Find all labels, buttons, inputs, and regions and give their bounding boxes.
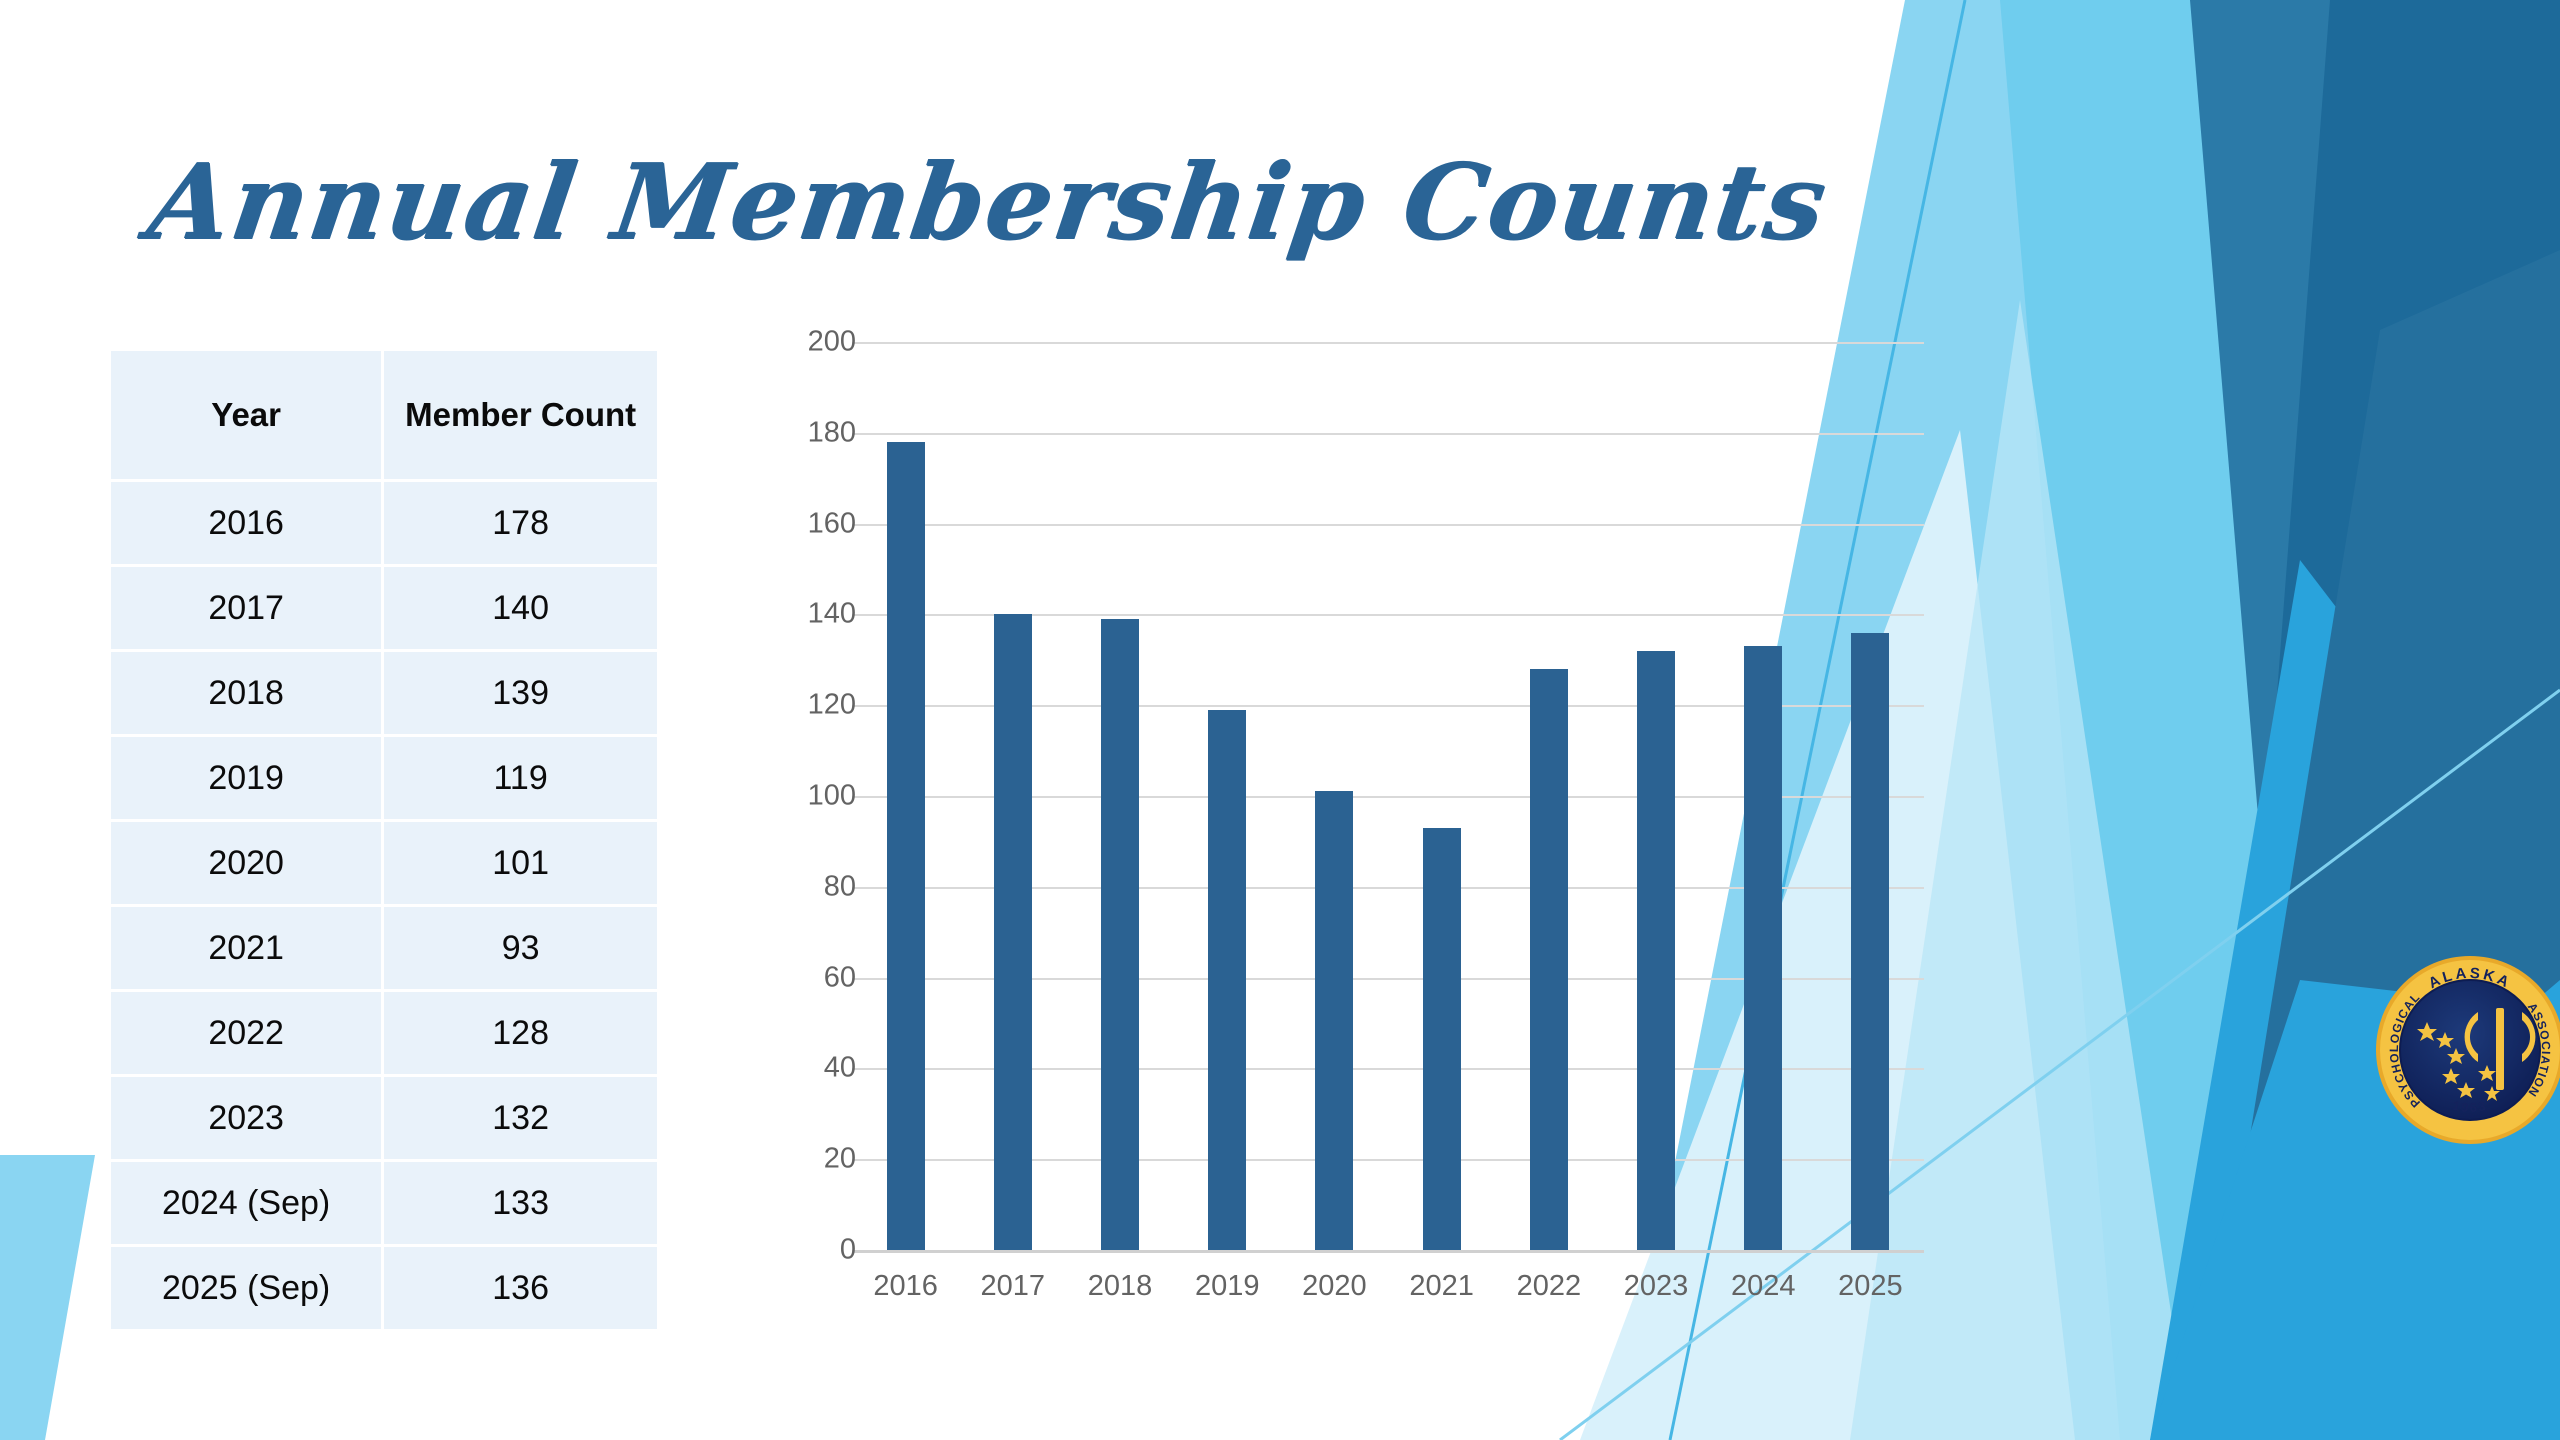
bar-2018[interactable]: [1101, 619, 1139, 1250]
bar-2017[interactable]: [994, 614, 1032, 1250]
table-row: 2016178: [111, 482, 657, 564]
cell-member-count: 119: [384, 737, 657, 819]
cell-year: 2024 (Sep): [111, 1162, 381, 1244]
bar-slot: [1281, 342, 1388, 1250]
bar-slot: [959, 342, 1066, 1250]
y-axis-tick-label: 120: [736, 689, 856, 722]
bar-2022[interactable]: [1530, 669, 1568, 1250]
bar-slot: [1066, 342, 1173, 1250]
y-axis-tick-label: 100: [736, 780, 856, 813]
bar-2019[interactable]: [1208, 710, 1246, 1250]
table-row: 2018139: [111, 652, 657, 734]
page-title: Annual Membership Counts: [141, 140, 1834, 263]
bar-2016[interactable]: [887, 442, 925, 1250]
table-row: 2022128: [111, 992, 657, 1074]
bar-slot: [1710, 342, 1817, 1250]
cell-year: 2018: [111, 652, 381, 734]
y-axis-tick-label: 140: [736, 598, 856, 631]
bar-2023[interactable]: [1637, 651, 1675, 1250]
cell-year: 2022: [111, 992, 381, 1074]
table-header-year: Year: [111, 351, 381, 479]
table-row: 2020101: [111, 822, 657, 904]
bg-shape-bottom-left: [0, 1155, 95, 1440]
membership-bar-chart: 020406080100120140160180200 201620172018…: [760, 330, 1940, 1330]
alaska-psychological-association-logo: ALASKA 1963 PSYCHOLOGICAL ASSOCIATION: [2370, 950, 2560, 1150]
cell-year: 2020: [111, 822, 381, 904]
x-axis-tick-label: 2017: [959, 1270, 1066, 1303]
cell-member-count: 132: [384, 1077, 657, 1159]
table-row: 2025 (Sep)136: [111, 1247, 657, 1329]
bar-2020[interactable]: [1315, 791, 1353, 1250]
cell-year: 2016: [111, 482, 381, 564]
bar-2021[interactable]: [1423, 828, 1461, 1250]
table-row: 2024 (Sep)133: [111, 1162, 657, 1244]
cell-year: 2021: [111, 907, 381, 989]
table-row: 202193: [111, 907, 657, 989]
slide-canvas: Annual Membership Counts Year Member Cou…: [0, 0, 2560, 1440]
x-axis-tick-label: 2025: [1817, 1270, 1924, 1303]
x-axis-tick-label: 2023: [1602, 1270, 1709, 1303]
chart-plot-area: [852, 342, 1924, 1250]
cell-year: 2019: [111, 737, 381, 819]
cell-member-count: 128: [384, 992, 657, 1074]
y-axis-tick-label: 80: [736, 870, 856, 903]
cell-member-count: 178: [384, 482, 657, 564]
y-axis-tick-label: 180: [736, 416, 856, 449]
gridline: [852, 1250, 1924, 1253]
table-header-member-count: Member Count: [384, 351, 657, 479]
y-axis-tick-label: 40: [736, 1052, 856, 1085]
y-axis-tick-label: 0: [736, 1234, 856, 1267]
cell-member-count: 140: [384, 567, 657, 649]
bar-slot: [1495, 342, 1602, 1250]
y-axis-tick-label: 160: [736, 507, 856, 540]
bar-slot: [852, 342, 959, 1250]
bar-slot: [1174, 342, 1281, 1250]
x-axis-tick-label: 2016: [852, 1270, 959, 1303]
membership-table: Year Member Count 2016178201714020181392…: [108, 348, 660, 1332]
bar-slot: [1388, 342, 1495, 1250]
cell-year: 2025 (Sep): [111, 1247, 381, 1329]
cell-member-count: 136: [384, 1247, 657, 1329]
cell-year: 2023: [111, 1077, 381, 1159]
x-axis-tick-label: 2021: [1388, 1270, 1495, 1303]
chart-x-axis-labels: 2016201720182019202020212022202320242025: [852, 1270, 1924, 1303]
table-row: 2019119: [111, 737, 657, 819]
x-axis-tick-label: 2019: [1174, 1270, 1281, 1303]
y-axis-tick-label: 200: [736, 326, 856, 359]
bar-slot: [1817, 342, 1924, 1250]
logo-year-text: 1963: [2451, 1098, 2489, 1115]
cell-member-count: 101: [384, 822, 657, 904]
cell-year: 2017: [111, 567, 381, 649]
cell-member-count: 139: [384, 652, 657, 734]
chart-bars: [852, 342, 1924, 1250]
cell-member-count: 93: [384, 907, 657, 989]
table-header-row: Year Member Count: [111, 351, 657, 479]
x-axis-tick-label: 2024: [1710, 1270, 1817, 1303]
table-row: 2023132: [111, 1077, 657, 1159]
table-body: 2016178201714020181392019119202010120219…: [111, 482, 657, 1329]
table-row: 2017140: [111, 567, 657, 649]
bar-slot: [1602, 342, 1709, 1250]
x-axis-tick-label: 2018: [1066, 1270, 1173, 1303]
x-axis-tick-label: 2022: [1495, 1270, 1602, 1303]
y-axis-tick-label: 60: [736, 961, 856, 994]
bar-2025[interactable]: [1851, 633, 1889, 1250]
bar-2024[interactable]: [1744, 646, 1782, 1250]
y-axis-tick-label: 20: [736, 1143, 856, 1176]
cell-member-count: 133: [384, 1162, 657, 1244]
x-axis-tick-label: 2020: [1281, 1270, 1388, 1303]
